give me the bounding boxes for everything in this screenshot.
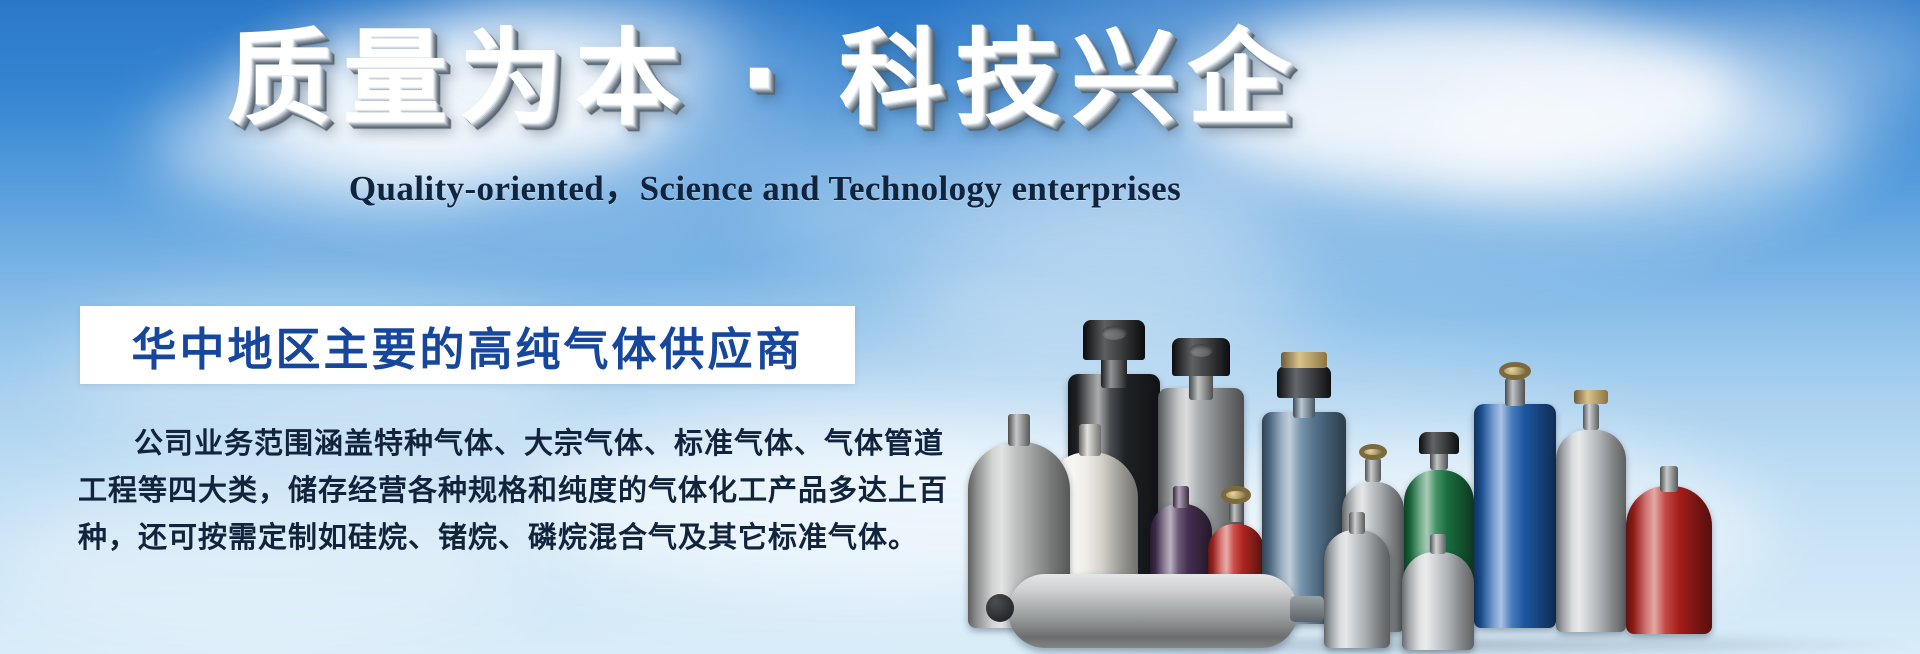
- cylinder-cap: [1277, 366, 1331, 398]
- cylinder-end-knob: [986, 594, 1014, 622]
- cylinder-neck: [1505, 378, 1525, 406]
- cylinder-neck: [1660, 466, 1678, 492]
- headline-container: 质量为本 · 科技兴企: [0, 22, 1530, 134]
- cylinder-cap: [1172, 338, 1230, 376]
- cylinder-red-large: [1626, 462, 1712, 634]
- valve-handwheel: [1499, 362, 1531, 380]
- subtitle: Quality-oriented，Science and Technology …: [0, 160, 1530, 211]
- cylinder-body: [1324, 530, 1390, 648]
- valve-handwheel: [1359, 444, 1387, 460]
- hero-banner: 质量为本 · 科技兴企 Quality-oriented，Science and…: [0, 0, 1920, 654]
- cylinder-aluminium-short: [1324, 508, 1390, 648]
- cylinder-valve: [1574, 390, 1608, 404]
- cylinder-body: [1474, 404, 1556, 628]
- cylinder-valve: [1290, 596, 1324, 622]
- cylinder-neck: [1008, 414, 1030, 446]
- cylinder-neck: [1349, 512, 1365, 534]
- cylinder-neck: [1173, 486, 1189, 508]
- cylinder-aluminium-mid: [1402, 532, 1474, 650]
- cylinder-neck: [1583, 404, 1599, 430]
- cylinder-blue: [1474, 366, 1556, 628]
- cylinder-body: [1626, 486, 1712, 634]
- description-paragraph: 公司业务范围涵盖特种气体、大宗气体、标准气体、气体管道 工程等四大类，储存经营各…: [78, 420, 868, 561]
- cylinder-aluminium-b: [1556, 396, 1626, 632]
- page-title: 质量为本 · 科技兴企: [227, 22, 1303, 134]
- cylinder-lying-grey: [1008, 574, 1298, 648]
- paragraph-line: 种，还可按需定制如硅烷、锗烷、磷烷混合气及其它标准气体。: [78, 514, 868, 561]
- cap-opening: [1102, 326, 1127, 340]
- valve-handwheel: [1221, 486, 1251, 504]
- cylinder-neck: [1365, 458, 1381, 482]
- cylinder-neck: [1430, 534, 1446, 554]
- cylinder-body: [1556, 430, 1626, 632]
- cylinder-body: [1402, 552, 1474, 650]
- cylinder-cap: [1083, 320, 1145, 360]
- tagline-text: 华中地区主要的高纯气体供应商: [131, 313, 803, 378]
- paragraph-line: 工程等四大类，储存经营各种规格和纯度的气体化工产品多达上百: [78, 467, 868, 514]
- gas-cylinder-lineup-image: [990, 234, 1920, 654]
- tagline-box: 华中地区主要的高纯气体供应商: [80, 306, 855, 384]
- cylinder-valve: [1281, 352, 1327, 368]
- cylinder-neck: [1079, 424, 1101, 456]
- cloud-shape: [1660, 0, 1920, 120]
- paragraph-line: 公司业务范围涵盖特种气体、大宗气体、标准气体、气体管道: [78, 420, 868, 467]
- cap-opening: [1189, 344, 1212, 357]
- cylinder-cap: [1419, 432, 1459, 454]
